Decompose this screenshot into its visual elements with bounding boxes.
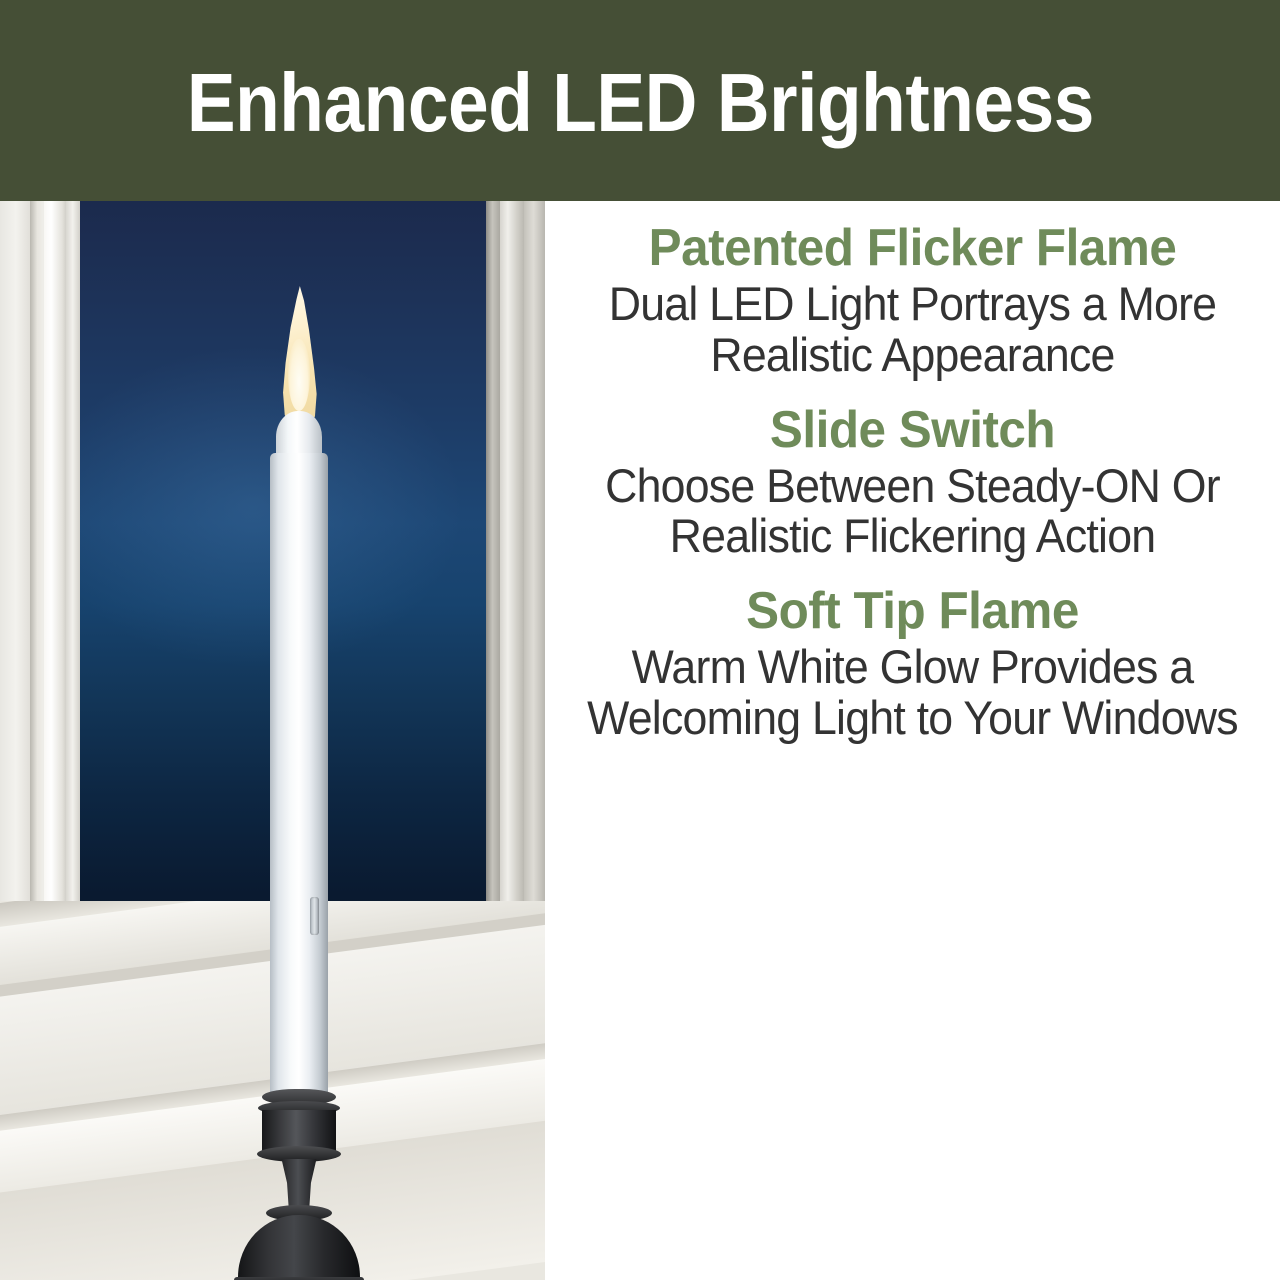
header-banner: Enhanced LED Brightness bbox=[0, 0, 1280, 201]
window-casing-right bbox=[524, 201, 545, 1011]
feature-description: Choose Between Steady-ON Or Realistic Fl… bbox=[563, 461, 1261, 563]
feature-title: Slide Switch bbox=[563, 403, 1261, 457]
feature-item-soft-tip-flame: Soft Tip Flame Warm White Glow Provides … bbox=[545, 584, 1280, 744]
window-jamb-right bbox=[500, 201, 526, 1009]
feature-item-flicker-flame: Patented Flicker Flame Dual LED Light Po… bbox=[545, 221, 1280, 381]
candle-shaft bbox=[270, 453, 328, 1103]
feature-description: Warm White Glow Provides a Welcoming Lig… bbox=[563, 642, 1261, 744]
feature-description: Dual LED Light Portrays a More Realistic… bbox=[563, 279, 1261, 381]
window-sash-left bbox=[66, 201, 81, 1013]
flame-core-glow bbox=[288, 339, 310, 411]
window-jamb-left bbox=[44, 201, 68, 1019]
product-photo bbox=[0, 201, 545, 1280]
base-dome bbox=[238, 1215, 360, 1280]
feature-list: Patented Flicker Flame Dual LED Light Po… bbox=[545, 201, 1280, 1280]
feature-title: Patented Flicker Flame bbox=[563, 221, 1261, 275]
infographic-page: Enhanced LED Brightness bbox=[0, 0, 1280, 1280]
page-title: Enhanced LED Brightness bbox=[186, 61, 1093, 144]
feature-title: Soft Tip Flame bbox=[563, 584, 1261, 638]
base-neck bbox=[276, 1159, 322, 1211]
feature-item-slide-switch: Slide Switch Choose Between Steady-ON Or… bbox=[545, 403, 1280, 563]
led-candle bbox=[232, 261, 352, 1271]
slide-switch[interactable] bbox=[310, 897, 319, 935]
